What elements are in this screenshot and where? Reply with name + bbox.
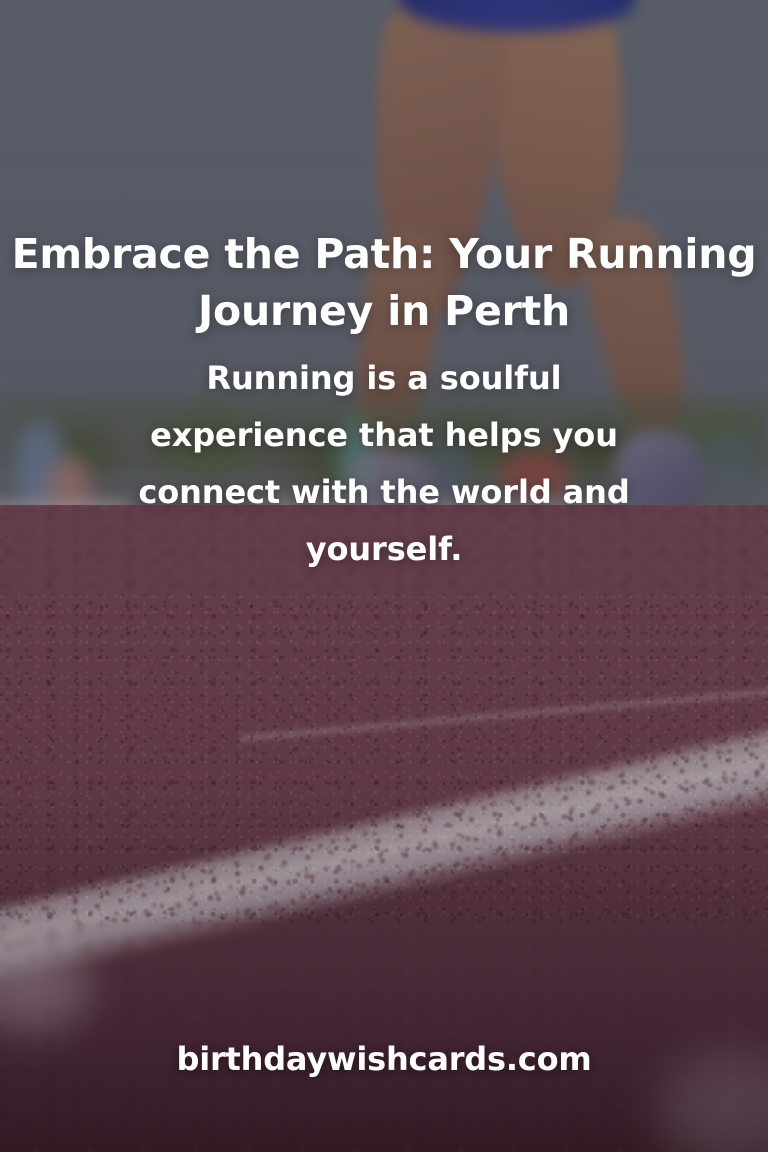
text-content: Embrace the Path: Your Running Journey i…: [0, 0, 768, 1152]
poster-subheadline: Running is a soulful experience that hel…: [104, 350, 664, 578]
website-credit: birthdaywishcards.com: [0, 1038, 768, 1080]
poster-canvas: Embrace the Path: Your Running Journey i…: [0, 0, 768, 1152]
poster-headline: Embrace the Path: Your Running Journey i…: [0, 226, 768, 340]
